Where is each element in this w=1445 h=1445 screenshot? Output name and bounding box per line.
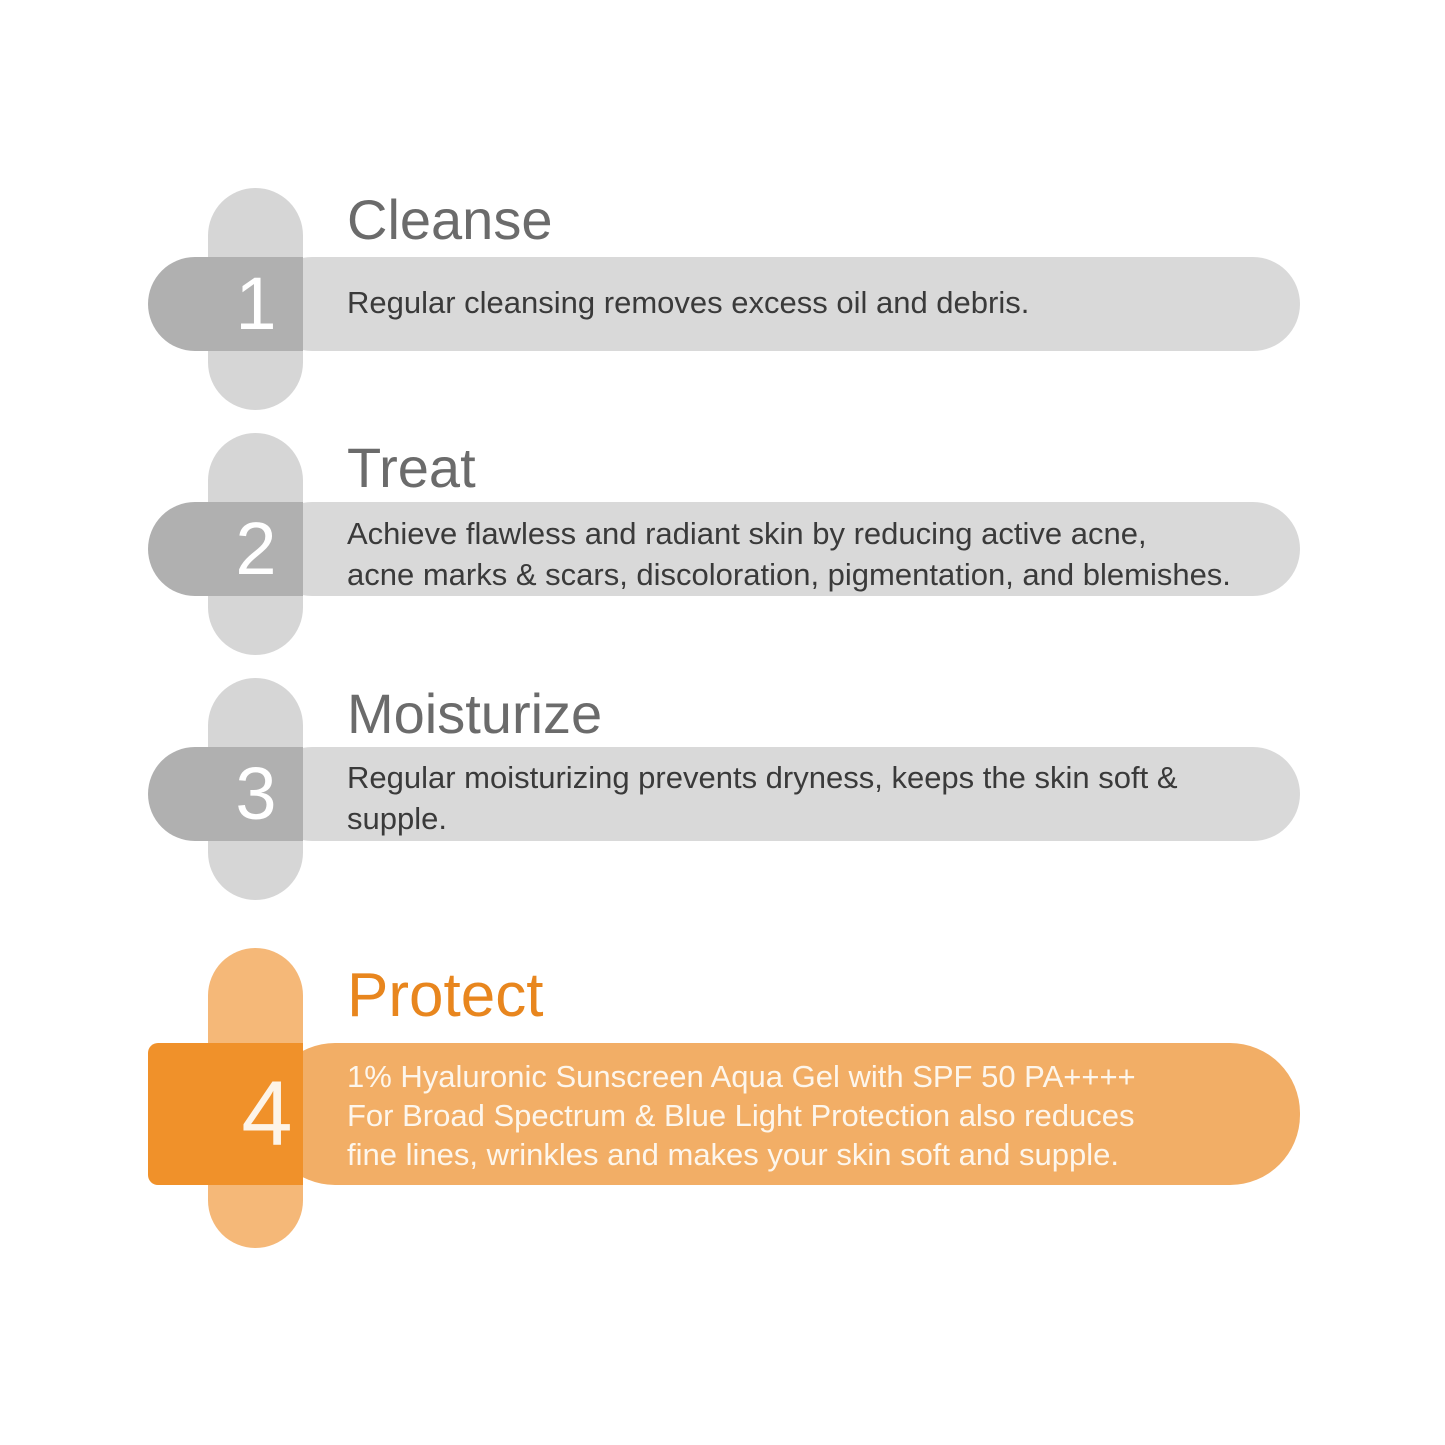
step-number-badge-4: 4 [148,1043,303,1185]
step-body-3: Regular moisturizing prevents dryness, k… [347,758,1257,840]
step-title-1: Cleanse [347,192,552,248]
step-number-1: 1 [235,267,277,341]
step-number-badge-1: 1 [148,257,303,351]
step-number-badge-3: 3 [148,747,303,841]
step-body-1: Regular cleansing removes excess oil and… [347,283,1257,324]
step-body-2: Achieve flawless and radiant skin by red… [347,514,1257,596]
skincare-routine-infographic: 1 Cleanse Regular cleansing removes exce… [0,0,1445,1445]
step-title-3: Moisturize [347,686,602,742]
step-body-4: 1% Hyaluronic Sunscreen Aqua Gel with SP… [347,1058,1247,1174]
step-title-2: Treat [347,440,476,496]
step-number-3: 3 [235,757,277,831]
step-title-4: Protect [347,965,543,1027]
step-number-badge-2: 2 [148,502,303,596]
step-number-4: 4 [241,1068,293,1160]
step-number-2: 2 [235,512,277,586]
